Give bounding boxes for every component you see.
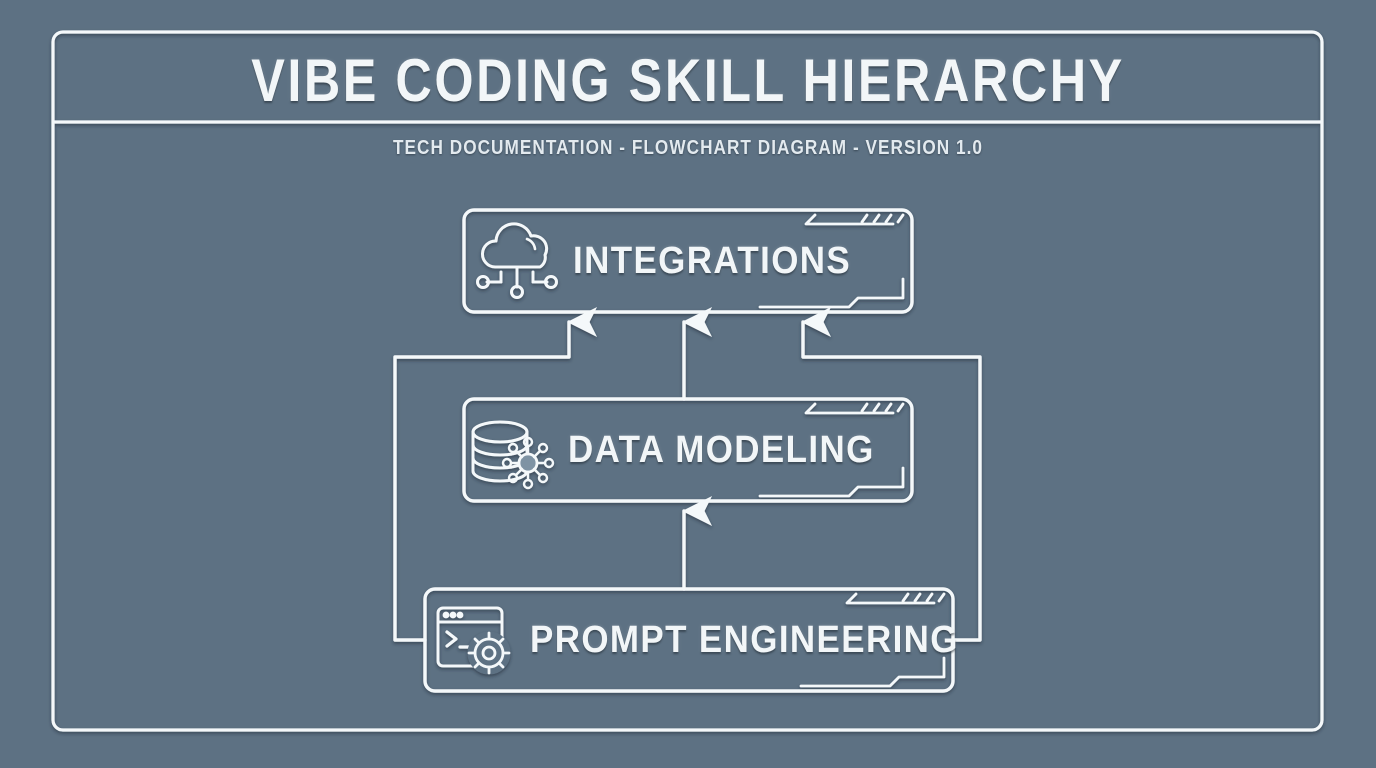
node-data-modeling (464, 399, 912, 501)
terminal-gear-icon (438, 608, 509, 673)
node-integrations-accent-top (806, 215, 893, 224)
node-data-modeling-accent-bottom (760, 468, 903, 496)
node-prompt-engineering (425, 589, 953, 691)
node-integrations-accent-bottom (760, 279, 903, 307)
node-integrations (464, 210, 912, 312)
node-prompt-engineering-accent-ticks (903, 594, 944, 601)
diagram-svg (0, 0, 1376, 768)
diagram-canvas: VIBE CODING SKILL HIERARCHY TECH DOCUMEN… (0, 0, 1376, 768)
node-integrations-accent-ticks (862, 215, 903, 222)
node-data-modeling-accent-ticks (862, 404, 903, 411)
node-prompt-engineering-accent-top (847, 594, 934, 603)
node-data-modeling-accent-top (806, 404, 893, 413)
connector-prompt-to-integrations-right (803, 322, 980, 640)
node-prompt-engineering-accent-bottom (801, 658, 944, 686)
cloud-network-icon (478, 224, 557, 298)
database-nodes-icon (473, 422, 553, 488)
outer-frame (53, 32, 1322, 730)
